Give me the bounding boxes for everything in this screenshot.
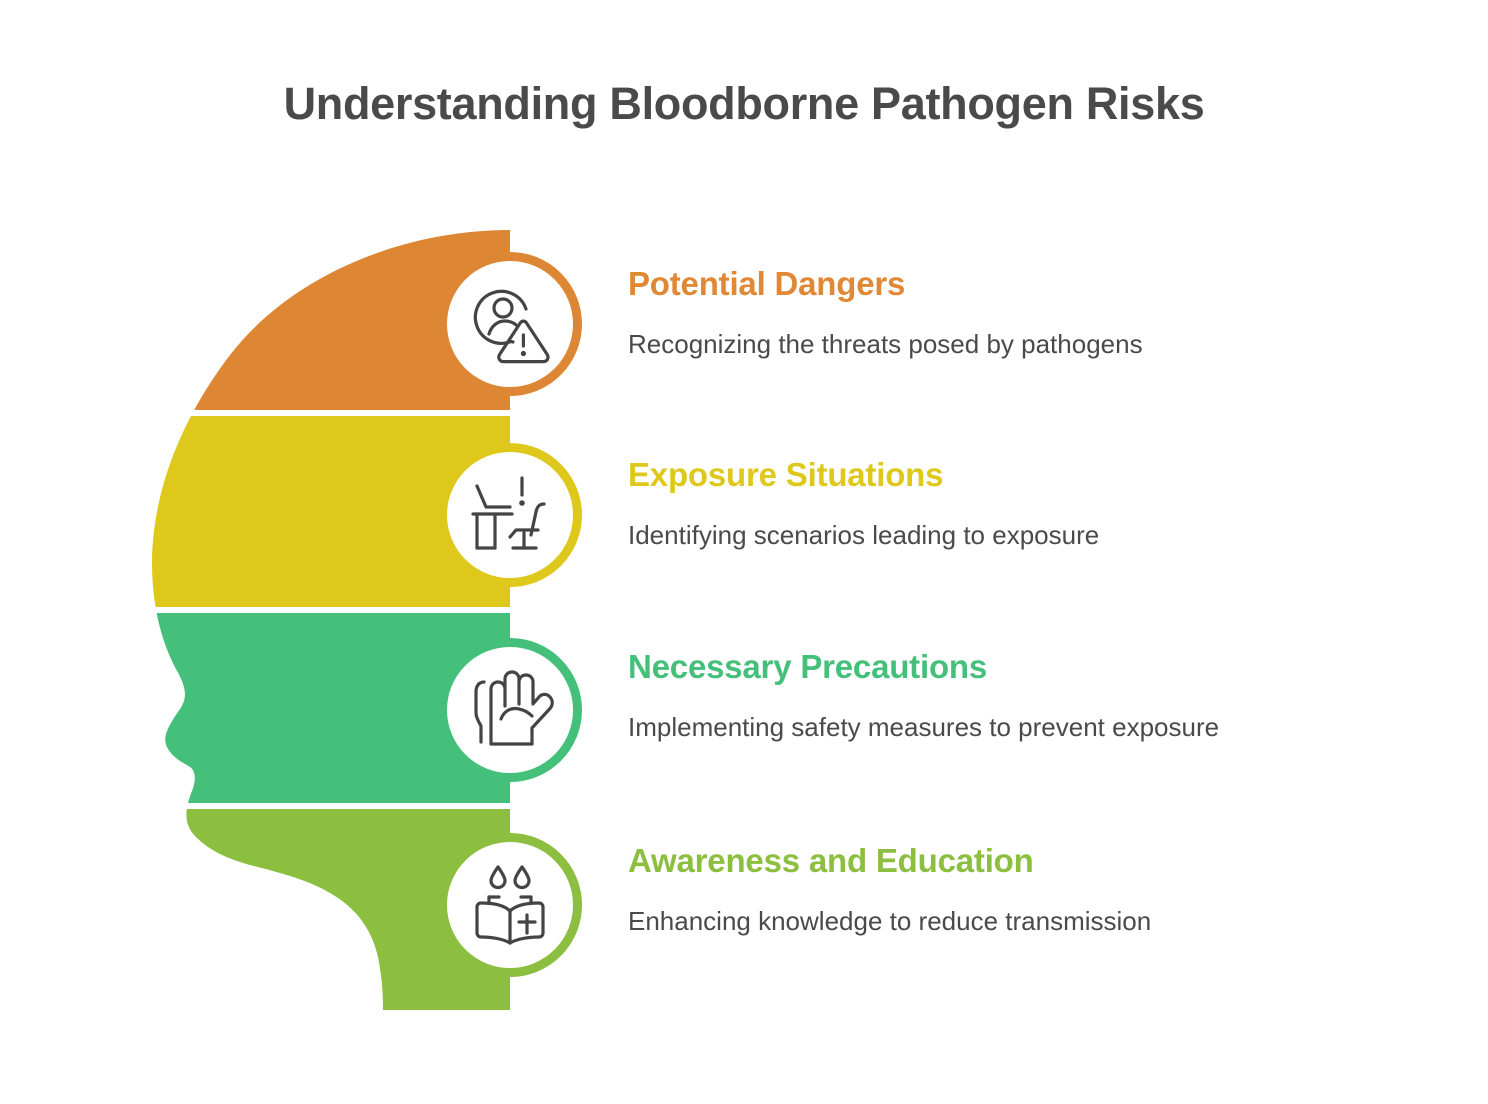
icon-circle-potential-dangers [438,252,582,396]
section-potential-dangers: Potential Dangers Recognizing the threat… [628,266,1448,361]
icon-circle-exposure-situations [438,443,582,587]
infographic-canvas: Understanding Bloodborne Pathogen Risks [0,0,1488,1104]
page-title: Understanding Bloodborne Pathogen Risks [0,78,1488,130]
section-heading: Necessary Precautions [628,649,1448,685]
section-description: Enhancing knowledge to reduce transmissi… [628,879,1448,938]
icon-circle-awareness-education [438,833,582,977]
section-heading: Exposure Situations [628,457,1448,493]
section-heading: Awareness and Education [628,843,1448,879]
open-book-blood-drop-icon [464,859,556,951]
section-heading: Potential Dangers [628,266,1448,302]
desk-chair-alert-icon [464,469,556,561]
section-necessary-precautions: Necessary Precautions Implementing safet… [628,649,1448,744]
safety-glove-icon [464,664,556,756]
section-exposure-situations: Exposure Situations Identifying scenario… [628,457,1448,552]
section-description: Implementing safety measures to prevent … [628,685,1448,744]
section-description: Identifying scenarios leading to exposur… [628,493,1448,552]
icon-circle-necessary-precautions [438,638,582,782]
section-awareness-education: Awareness and Education Enhancing knowle… [628,843,1448,938]
section-description: Recognizing the threats posed by pathoge… [628,302,1448,361]
person-warning-icon [464,278,556,370]
